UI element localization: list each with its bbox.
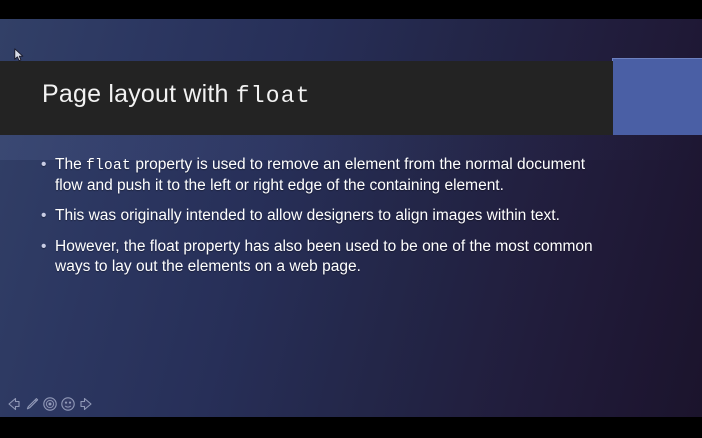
bullet-marker: • [41,155,46,174]
list-item-code: float [86,158,131,174]
list-item-text-pre: The [55,156,86,173]
presenter-navigation-toolbar[interactable] [6,396,94,412]
next-slide-icon[interactable] [78,396,94,412]
navigator-icon[interactable] [42,396,58,412]
list-item-text-pre: However, the float property has also bee… [55,238,593,274]
slide-title-bar: Page layout with float [0,61,613,135]
list-item: •The float property is used to remove an… [38,155,598,196]
accent-block [612,58,702,135]
list-item-text-post: property is used to remove an element fr… [55,156,585,194]
slide-body: •The float property is used to remove an… [38,155,598,288]
list-item: •However, the float property has also be… [38,237,598,278]
bullet-marker: • [41,237,46,256]
page-title-prefix: Page layout with [42,80,236,108]
previous-slide-icon[interactable] [6,396,22,412]
page-title: Page layout with float [42,80,311,109]
slide-canvas[interactable]: Page layout with float •The float proper… [0,19,702,417]
presentation-fullscreen: Page layout with float •The float proper… [0,0,702,438]
pen-icon[interactable] [24,396,40,412]
bullet-marker: • [41,206,46,225]
spotlight-icon[interactable] [60,396,76,412]
list-item: •This was originally intended to allow d… [38,206,598,227]
list-item-text-pre: This was originally intended to allow de… [55,207,560,224]
page-title-code: float [236,83,311,109]
